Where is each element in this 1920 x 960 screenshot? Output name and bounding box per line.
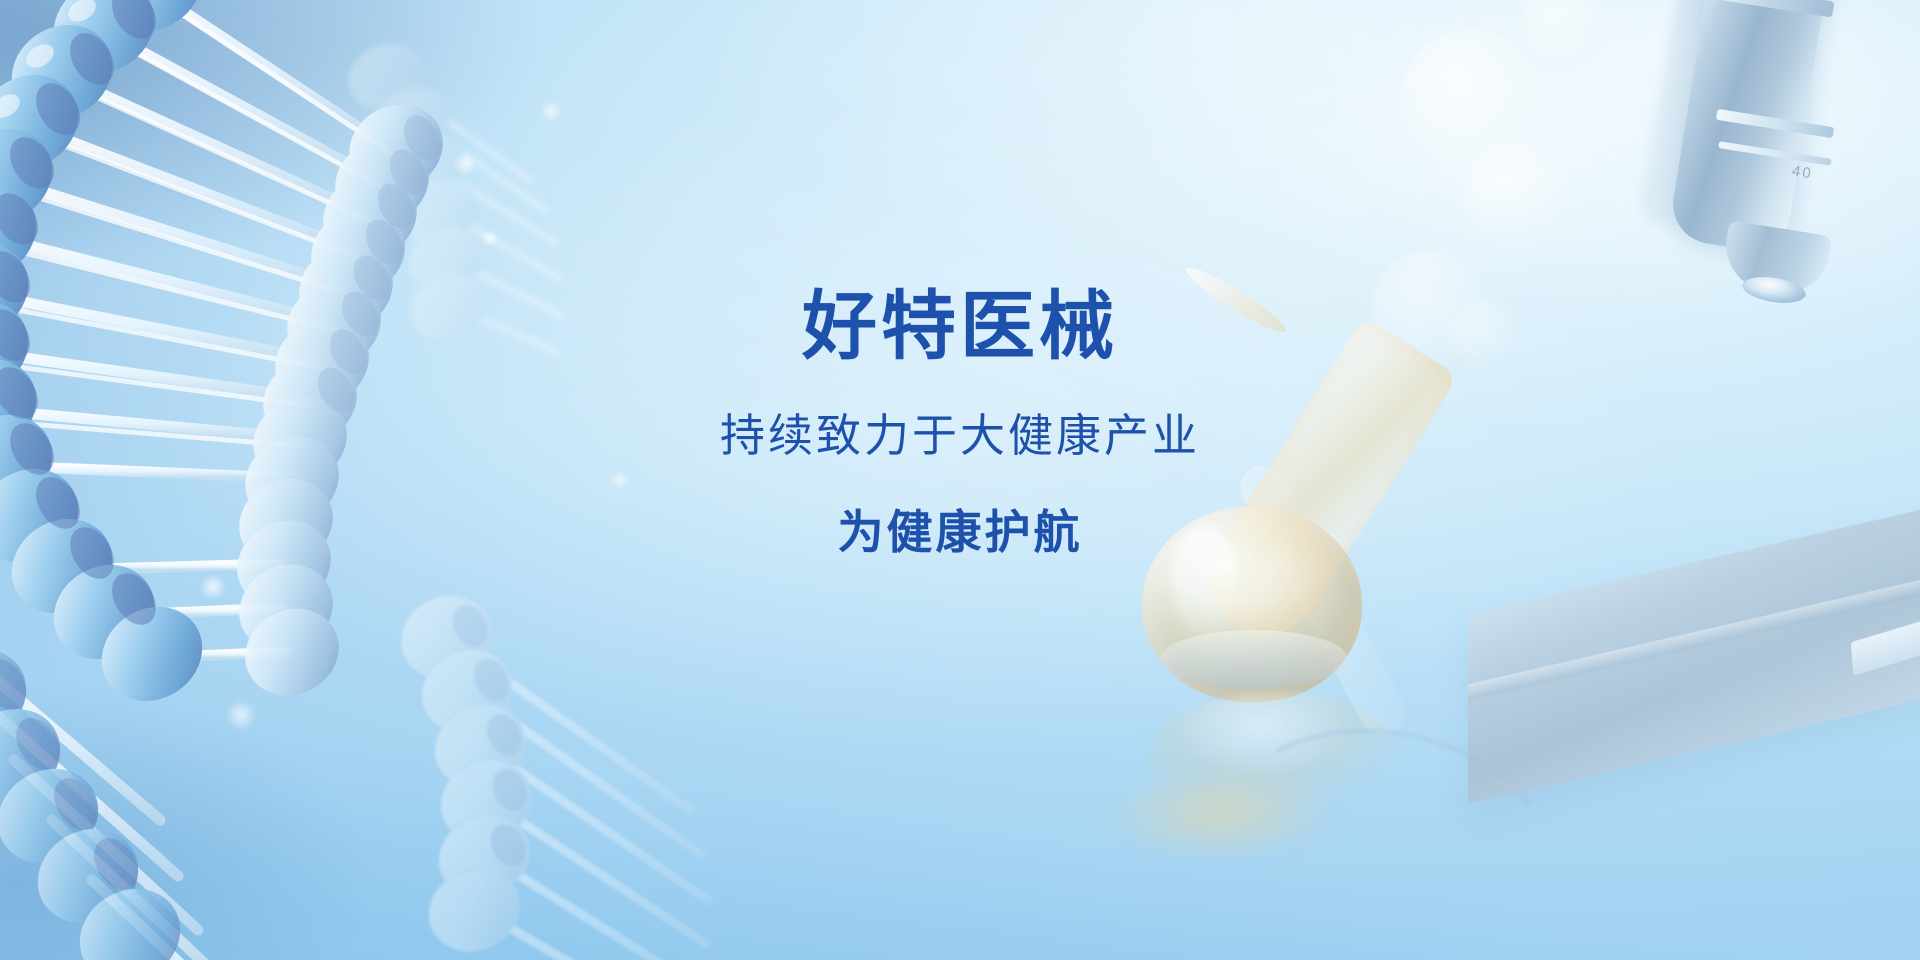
hero-banner: 40 好特医械 持续致力于大健康产业 为健康护航 <box>0 0 1920 960</box>
banner-subtitle: 持续致力于大健康产业 <box>720 411 1200 461</box>
banner-tagline: 为健康护航 <box>838 507 1083 558</box>
banner-text-block: 好特医械 持续致力于大健康产业 为健康护航 <box>0 0 1920 960</box>
banner-title: 好特医械 <box>802 286 1118 367</box>
